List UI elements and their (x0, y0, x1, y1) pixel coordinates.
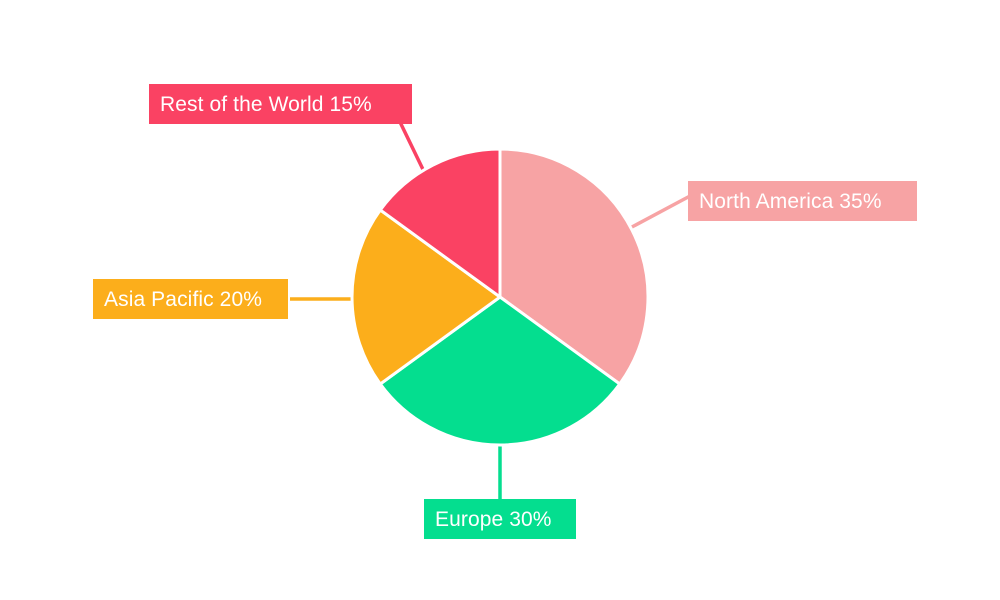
slice-label-north-america[interactable]: North America 35% (688, 181, 917, 221)
slice-label-asia-pacific[interactable]: Asia Pacific 20% (93, 279, 288, 319)
slice-label-text: Europe 30% (435, 509, 552, 530)
slice-label-text: North America 35% (699, 191, 882, 212)
slice-label-europe[interactable]: Europe 30% (424, 499, 576, 539)
slice-label-text: Asia Pacific 20% (104, 289, 262, 310)
pie-slices (352, 149, 648, 445)
slice-label-text: Rest of the World 15% (160, 94, 372, 115)
pie-chart-figure: North America 35% Europe 30% Asia Pacifi… (0, 0, 1000, 600)
slice-label-rest-of-the-world[interactable]: Rest of the World 15% (149, 84, 412, 124)
leader-line-north-america (630, 196, 690, 228)
